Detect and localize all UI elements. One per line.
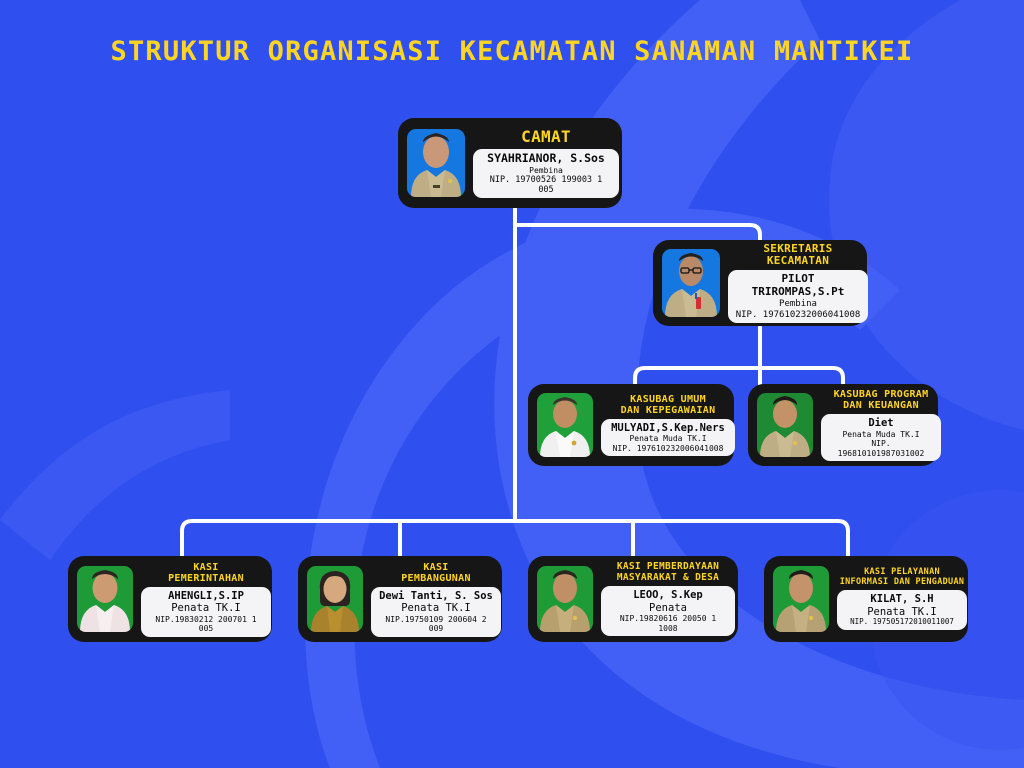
org-node-sekretaris-nip: NIP. 197610232006041008 bbox=[735, 310, 861, 321]
org-node-kasi-pemberdayaan-nip: NIP.19820616 20050 1 1008 bbox=[608, 614, 728, 633]
org-node-kasi-pemerintahan-body: KASI PEMERINTAHAN AHENGLI,S.IP Penata TK… bbox=[141, 565, 271, 633]
org-node-kasi-pembangunan-rank: Penata TK.I bbox=[378, 602, 494, 614]
org-node-kasi-pembangunan-role: KASI PEMBANGUNAN bbox=[401, 562, 471, 584]
org-node-kasubag-umum-nip: NIP. 197610232006041008 bbox=[608, 444, 728, 453]
org-node-kasubag-program-nip: NIP. 196810101987031002 bbox=[828, 439, 934, 458]
portrait-kasi-pelayanan bbox=[773, 566, 829, 632]
connector-camat-sekretaris bbox=[515, 225, 760, 240]
org-node-kasi-pemberdayaan-body: KASI PEMBERDAYAAN MASYARAKAT & DESA LEOO… bbox=[601, 565, 735, 633]
org-node-kasubag-program-body: KASUBAG PROGRAM DAN KEUANGAN Diet Penata… bbox=[821, 393, 941, 457]
org-node-sekretaris-role: SEKRETARIS KECAMATAN bbox=[763, 243, 832, 268]
portrait-kasubag-umum bbox=[537, 393, 593, 457]
portrait-sekretaris bbox=[662, 249, 720, 317]
org-node-camat-nip: NIP. 19700526 199003 1 005 bbox=[480, 175, 612, 195]
org-node-camat-rank: Pembina bbox=[480, 166, 612, 175]
org-node-kasi-pemerintahan-role: KASI PEMERINTAHAN bbox=[168, 562, 244, 584]
org-node-kasubag-program-rank: Penata Muda TK.I bbox=[828, 430, 934, 439]
org-node-kasubag-umum-plate: MULYADI,S.Kep.Ners Penata Muda TK.I NIP.… bbox=[601, 419, 735, 456]
org-node-kasi-pembangunan-name: Dewi Tanti, S. Sos bbox=[378, 590, 494, 602]
org-node-kasubag-umum-body: KASUBAG UMUM DAN KEPEGAWAIAN MULYADI,S.K… bbox=[601, 393, 735, 457]
portrait-kasi-pemberdayaan bbox=[537, 566, 593, 632]
org-node-kasi-pelayanan-role: KASI PELAYANAN INFORMASI DAN PENGADUAN bbox=[840, 568, 965, 587]
org-node-kasubag-umum-name: MULYADI,S.Kep.Ners bbox=[608, 422, 728, 434]
org-node-kasubag-program-name: Diet bbox=[828, 417, 934, 429]
org-node-camat[interactable]: CAMAT SYAHRIANOR, S.Sos Pembina NIP. 197… bbox=[398, 118, 622, 208]
org-node-kasi-pembangunan-body: KASI PEMBANGUNAN Dewi Tanti, S. Sos Pena… bbox=[371, 565, 501, 633]
org-node-camat-body: CAMAT SYAHRIANOR, S.Sos Pembina NIP. 197… bbox=[473, 127, 619, 199]
org-node-camat-plate: SYAHRIANOR, S.Sos Pembina NIP. 19700526 … bbox=[473, 149, 619, 198]
org-node-kasubag-program[interactable]: KASUBAG PROGRAM DAN KEUANGAN Diet Penata… bbox=[748, 384, 938, 466]
org-node-kasubag-umum-role: KASUBAG UMUM DAN KEPEGAWAIAN bbox=[621, 394, 716, 416]
org-node-kasi-pelayanan-body: KASI PELAYANAN INFORMASI DAN PENGADUAN K… bbox=[837, 565, 967, 633]
org-node-camat-role: CAMAT bbox=[521, 128, 571, 146]
org-node-kasi-pemerintahan-nip: NIP.19830212 200701 1 005 bbox=[148, 615, 264, 634]
connector-kasi-bar bbox=[182, 521, 848, 556]
org-node-kasubag-program-role: KASUBAG PROGRAM DAN KEUANGAN bbox=[834, 389, 929, 411]
org-node-kasi-pemberdayaan[interactable]: KASI PEMBERDAYAAN MASYARAKAT & DESA LEOO… bbox=[528, 556, 738, 642]
org-node-kasubag-umum-rank: Penata Muda TK.I bbox=[608, 434, 728, 443]
org-node-kasi-pelayanan-nip: NIP. 197505172010011007 bbox=[844, 618, 960, 627]
org-node-kasi-pemerintahan[interactable]: KASI PEMERINTAHAN AHENGLI,S.IP Penata TK… bbox=[68, 556, 272, 642]
portrait-kasi-pembangunan bbox=[307, 566, 363, 632]
page-title: STRUKTUR ORGANISASI KECAMATAN SANAMAN MA… bbox=[0, 36, 1024, 67]
org-node-kasi-pembangunan-nip: NIP.19750109 200604 2 009 bbox=[378, 615, 494, 634]
org-node-kasi-pelayanan[interactable]: KASI PELAYANAN INFORMASI DAN PENGADUAN K… bbox=[764, 556, 968, 642]
org-node-sekretaris-plate: PILOT TRIROMPAS,S.Pt Pembina NIP. 197610… bbox=[728, 270, 868, 323]
org-node-kasi-pemberdayaan-plate: LEOO, S.Kep Penata NIP.19820616 20050 1 … bbox=[601, 586, 735, 636]
org-node-sekretaris-name: PILOT TRIROMPAS,S.Pt bbox=[735, 273, 861, 299]
org-node-kasi-pemberdayaan-role: KASI PEMBERDAYAAN MASYARAKAT & DESA bbox=[617, 562, 719, 583]
org-node-kasi-pemberdayaan-name: LEOO, S.Kep bbox=[608, 589, 728, 601]
connector-sekretaris-kasubag-umum bbox=[635, 368, 760, 384]
org-node-kasi-pemerintahan-plate: AHENGLI,S.IP Penata TK.I NIP.19830212 20… bbox=[141, 587, 271, 637]
org-node-sekretaris-rank: Pembina bbox=[735, 299, 861, 310]
portrait-kasi-pemerintahan bbox=[77, 566, 133, 632]
org-node-kasi-pemerintahan-name: AHENGLI,S.IP bbox=[148, 590, 264, 602]
org-node-kasi-pelayanan-plate: KILAT, S.H Penata TK.I NIP. 197505172010… bbox=[837, 590, 967, 630]
org-node-kasi-pembangunan-plate: Dewi Tanti, S. Sos Penata TK.I NIP.19750… bbox=[371, 587, 501, 637]
portrait-camat bbox=[407, 129, 465, 197]
org-node-kasubag-umum[interactable]: KASUBAG UMUM DAN KEPEGAWAIAN MULYADI,S.K… bbox=[528, 384, 734, 466]
org-node-kasubag-program-plate: Diet Penata Muda TK.I NIP. 1968101019870… bbox=[821, 414, 941, 461]
org-node-kasi-pemberdayaan-rank: Penata bbox=[608, 602, 728, 614]
org-node-kasi-pemerintahan-rank: Penata TK.I bbox=[148, 602, 264, 614]
org-node-kasi-pelayanan-name: KILAT, S.H bbox=[844, 593, 960, 605]
portrait-kasubag-program bbox=[757, 393, 813, 457]
org-node-kasi-pembangunan[interactable]: KASI PEMBANGUNAN Dewi Tanti, S. Sos Pena… bbox=[298, 556, 502, 642]
org-node-sekretaris-body: SEKRETARIS KECAMATAN PILOT TRIROMPAS,S.P… bbox=[728, 249, 868, 317]
connector-sekretaris-kasubag-program bbox=[760, 368, 843, 384]
org-node-sekretaris[interactable]: SEKRETARIS KECAMATAN PILOT TRIROMPAS,S.P… bbox=[653, 240, 867, 326]
org-node-camat-name: SYAHRIANOR, S.Sos bbox=[480, 152, 612, 166]
